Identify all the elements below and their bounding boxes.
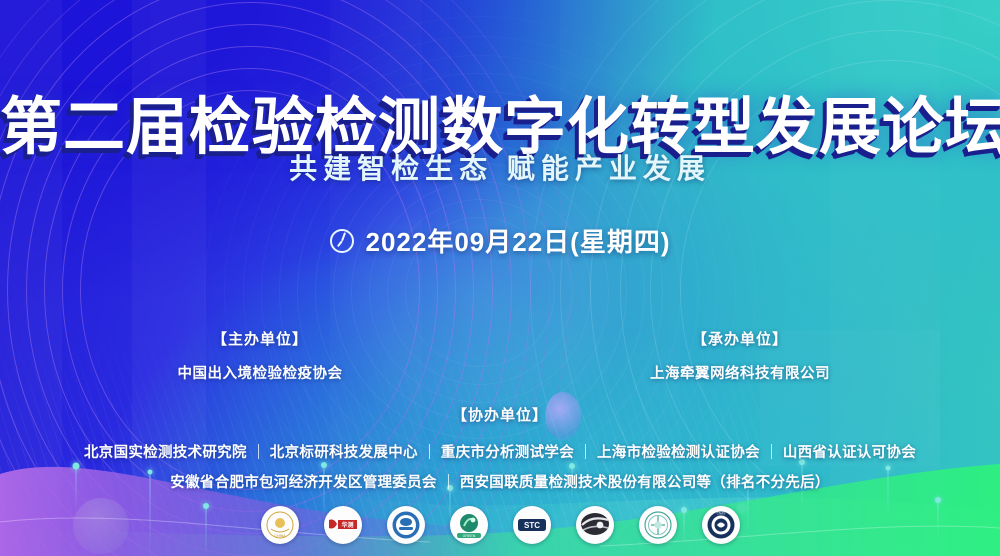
supporter-name: 山西省认证认可协会 bbox=[783, 441, 916, 462]
host-name: 中国出入境检验检疫协会 bbox=[120, 362, 400, 383]
page-subtitle: 共建智检生态 赋能产业发展 bbox=[0, 147, 1000, 187]
forum-poster: 第二届检验检测数字化转型发展论坛 共建智检生态 赋能产业发展 2022年09月2… bbox=[0, 0, 1000, 556]
event-date-text: 2022年09月22日(星期四) bbox=[366, 222, 671, 259]
supporters-row-1: 北京国实检测技术研究院 北京标研科技发展中心 重庆市分析测试学会 上海市检验检测… bbox=[0, 441, 1000, 462]
supporter-name: 安徽省合肥市包河经济开发区管理委员会 bbox=[170, 471, 436, 492]
cohost-label: 【承办单位】 bbox=[600, 328, 880, 349]
host-organization: 【主办单位】 中国出入境检验检疫协会 bbox=[120, 328, 400, 383]
supporter-name: 西安国联质量检测技术股份有限公司等（排名不分先后） bbox=[460, 471, 830, 492]
partner-logo-strip: CHINA 华测 bbox=[0, 506, 1000, 544]
logo-badge-5: STC bbox=[513, 506, 551, 544]
supporter-name: 重庆市分析测试学会 bbox=[441, 441, 574, 462]
separator bbox=[585, 444, 586, 459]
svg-text:GREEN: GREEN bbox=[462, 534, 475, 538]
cohost-name: 上海牵翼网络科技有限公司 bbox=[600, 362, 880, 383]
svg-text:华测: 华测 bbox=[341, 521, 353, 529]
svg-text:STC: STC bbox=[524, 521, 540, 530]
separator bbox=[258, 444, 259, 459]
supporters-label: 【协办单位】 bbox=[0, 404, 1000, 425]
logo-badge-7 bbox=[639, 506, 677, 544]
separator bbox=[429, 444, 430, 459]
svg-text:CHINA: CHINA bbox=[274, 534, 286, 538]
event-date: 2022年09月22日(星期四) bbox=[0, 222, 1000, 259]
supporter-name: 上海市检验检测认证协会 bbox=[597, 441, 760, 462]
logo-badge-2: 华测 bbox=[324, 506, 362, 544]
cohost-organization: 【承办单位】 上海牵翼网络科技有限公司 bbox=[600, 328, 880, 383]
host-label: 【主办单位】 bbox=[120, 328, 400, 349]
separator bbox=[448, 474, 449, 489]
svg-text:CNAS: CNAS bbox=[716, 511, 725, 515]
logo-badge-6 bbox=[576, 506, 614, 544]
logo-badge-1: CHINA bbox=[261, 506, 299, 544]
supporter-name: 北京国实检测技术研究院 bbox=[84, 441, 247, 462]
supporter-organizations: 【协办单位】 北京国实检测技术研究院 北京标研科技发展中心 重庆市分析测试学会 … bbox=[0, 404, 1000, 492]
logo-badge-3 bbox=[387, 506, 425, 544]
supporter-name: 北京标研科技发展中心 bbox=[270, 441, 418, 462]
logo-badge-4: GREEN bbox=[450, 506, 488, 544]
supporters-row-2: 安徽省合肥市包河经济开发区管理委员会 西安国联质量检测技术股份有限公司等（排名不… bbox=[0, 471, 1000, 492]
clock-icon bbox=[330, 229, 354, 253]
logo-badge-8: CNAS bbox=[702, 506, 740, 544]
separator bbox=[771, 444, 772, 459]
